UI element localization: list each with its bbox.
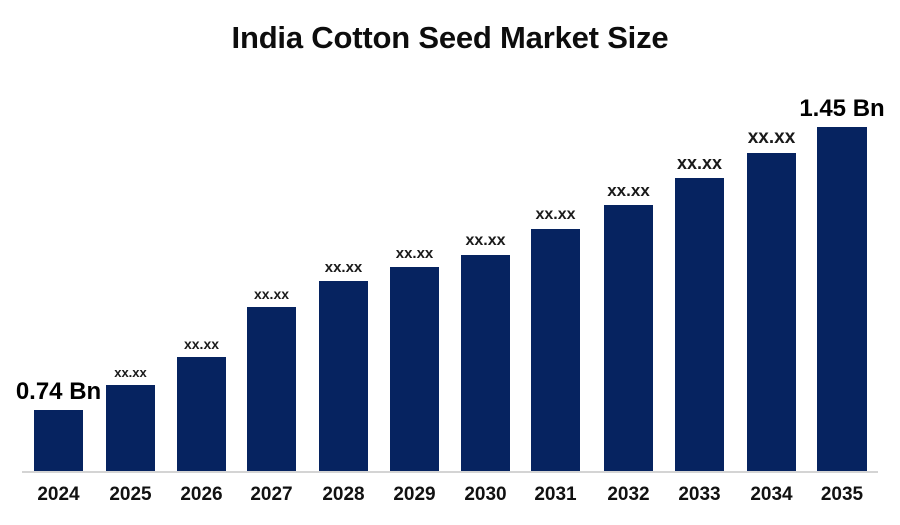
bar-group: xx.xx [747, 113, 796, 472]
bar[interactable] [461, 255, 510, 472]
x-axis-tick-label: 2031 [531, 481, 580, 509]
bar[interactable] [177, 357, 226, 472]
bar-value-label: xx.xx [325, 260, 363, 275]
bar-value-label: xx.xx [465, 233, 505, 249]
bar-group: xx.xx [675, 138, 724, 472]
bar-value-label: xx.xx [535, 207, 575, 223]
bar-value-label: 0.74 Bn [16, 380, 101, 404]
x-axis-tick-label: 2032 [604, 481, 653, 509]
x-axis-line [22, 471, 878, 473]
bar[interactable] [390, 267, 439, 472]
x-axis-tick-label: 2028 [319, 481, 368, 509]
bar-group: 1.45 Bn [817, 87, 867, 472]
x-axis-tick-label: 2033 [675, 481, 724, 509]
x-axis-tick-label: 2025 [106, 481, 155, 509]
x-axis-tick-label: 2030 [461, 481, 510, 509]
x-axis-category-labels: 2024202520262027202820292030203120322033… [0, 481, 900, 517]
bar-value-label: xx.xx [254, 287, 289, 301]
x-axis-tick-label: 2035 [817, 481, 867, 509]
bar[interactable] [247, 307, 296, 472]
chart-container: India Cotton Seed Market Size 0.74 Bnxx.… [0, 0, 900, 525]
bar[interactable] [747, 153, 796, 472]
x-axis-tick-label: 2034 [747, 481, 796, 509]
x-axis-tick-label: 2027 [247, 481, 296, 509]
x-axis-tick-label: 2026 [177, 481, 226, 509]
bar[interactable] [319, 281, 368, 472]
bar-group: xx.xx [177, 317, 226, 472]
bar[interactable] [34, 410, 83, 472]
bar-group: 0.74 Bn [34, 370, 83, 472]
bar-value-label: xx.xx [396, 246, 434, 261]
plot-area: 0.74 Bnxx.xxxx.xxxx.xxxx.xxxx.xxxx.xxxx.… [0, 0, 900, 472]
bar-value-label: xx.xx [114, 366, 147, 379]
bar[interactable] [531, 229, 580, 472]
bar-value-label: xx.xx [607, 182, 650, 199]
bar[interactable] [604, 205, 653, 472]
bar-group: xx.xx [604, 165, 653, 472]
bar-group: xx.xx [461, 215, 510, 472]
bar-group: xx.xx [106, 345, 155, 472]
bar[interactable] [106, 385, 155, 472]
bar[interactable] [675, 178, 724, 472]
bar-value-label: xx.xx [677, 154, 722, 172]
bar-group: xx.xx [247, 267, 296, 472]
bar-value-label: xx.xx [184, 337, 219, 351]
bar-group: xx.xx [531, 189, 580, 472]
bar[interactable] [817, 127, 867, 472]
bar-value-label: xx.xx [748, 128, 796, 147]
x-axis-tick-label: 2024 [34, 481, 83, 509]
x-axis-tick-label: 2029 [390, 481, 439, 509]
bar-value-label: 1.45 Bn [799, 97, 884, 121]
bar-group: xx.xx [319, 241, 368, 472]
bar-group: xx.xx [390, 227, 439, 472]
